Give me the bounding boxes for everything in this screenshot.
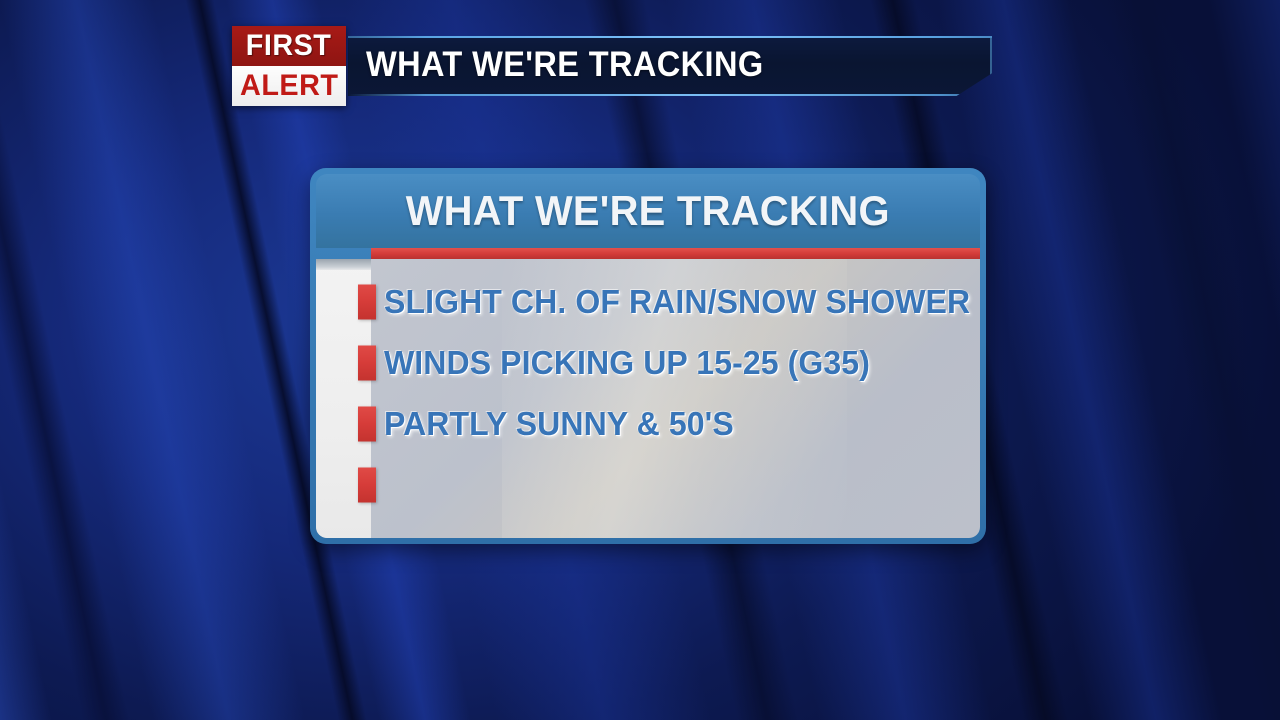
tracking-bullet-list: SLIGHT CH. OF RAIN/SNOW SHOWER WINDS PIC… (316, 259, 980, 515)
tracking-card: WHAT WE'RE TRACKING SLIGHT CH. OF RAIN/S… (310, 168, 986, 544)
list-item-label: SLIGHT CH. OF RAIN/SNOW SHOWER (384, 283, 970, 321)
list-item (316, 454, 980, 515)
bullet-square-icon (358, 284, 376, 319)
top-banner: WHAT WE'RE TRACKING (348, 36, 992, 96)
list-item-label: WINDS PICKING UP 15-25 (G35) (384, 344, 870, 382)
top-banner-title: WHAT WE'RE TRACKING (366, 45, 764, 85)
tracking-card-header: WHAT WE'RE TRACKING (316, 174, 980, 248)
tracking-card-inner: WHAT WE'RE TRACKING SLIGHT CH. OF RAIN/S… (316, 174, 980, 538)
logo-first-text: FIRST (246, 29, 332, 63)
logo-alert-text: ALERT (240, 69, 338, 103)
bullet-square-icon (358, 345, 376, 380)
list-item: PARTLY SUNNY & 50'S (316, 393, 980, 454)
tracking-card-body: SLIGHT CH. OF RAIN/SNOW SHOWER WINDS PIC… (316, 259, 980, 538)
red-divider (371, 248, 980, 259)
tracking-card-title: WHAT WE'RE TRACKING (406, 187, 890, 235)
list-item: WINDS PICKING UP 15-25 (G35) (316, 332, 980, 393)
bullet-square-icon (358, 467, 376, 502)
bullet-square-icon (358, 406, 376, 441)
list-item: SLIGHT CH. OF RAIN/SNOW SHOWER (316, 271, 980, 332)
first-alert-logo: FIRST ALERT (232, 26, 346, 106)
broadcast-graphic-stage: FIRST ALERT WHAT WE'RE TRACKING WHAT WE'… (0, 0, 1280, 720)
logo-alert-band: ALERT (232, 66, 346, 106)
logo-first-band: FIRST (232, 26, 346, 66)
list-item-label: PARTLY SUNNY & 50'S (384, 405, 734, 443)
